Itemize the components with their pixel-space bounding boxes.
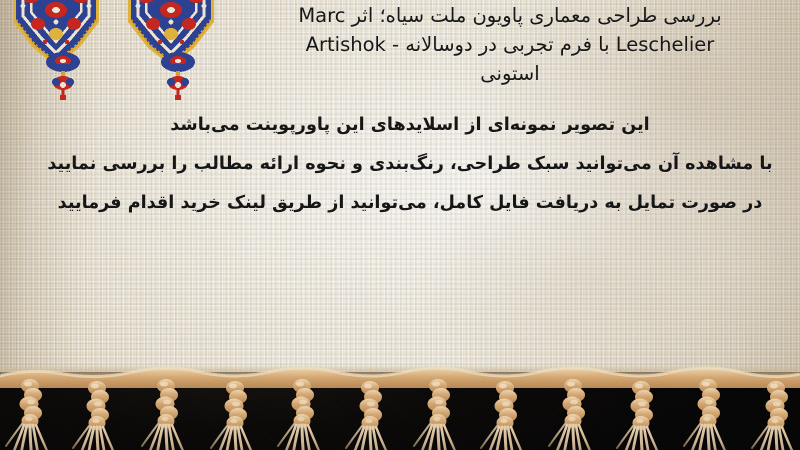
title-line-2: Leschelier با فرم تجربی در دوسالانه - Ar… bbox=[225, 30, 795, 59]
title-line-1: بررسی طراحی معماری پاویون ملت سیاه؛ اثر … bbox=[225, 1, 795, 30]
dark-background-band bbox=[0, 372, 800, 450]
body-line-3: در صورت تمایل به دریافت فایل کامل، می‌تو… bbox=[30, 184, 790, 223]
slide-canvas: بررسی طراحی معماری پاویون ملت سیاه؛ اثر … bbox=[0, 0, 800, 450]
slide-body: این تصویر نمونه‌ای از اسلایدهای این پاور… bbox=[30, 106, 790, 223]
title-line-3: استونی bbox=[225, 59, 795, 88]
slide-title: بررسی طراحی معماری پاویون ملت سیاه؛ اثر … bbox=[225, 1, 795, 88]
body-line-2: با مشاهده آن می‌توانید سبک طراحی، رنگ‌بن… bbox=[30, 145, 790, 184]
body-line-1: این تصویر نمونه‌ای از اسلایدهای این پاور… bbox=[30, 106, 790, 145]
carpet-edge-hem bbox=[0, 364, 800, 380]
